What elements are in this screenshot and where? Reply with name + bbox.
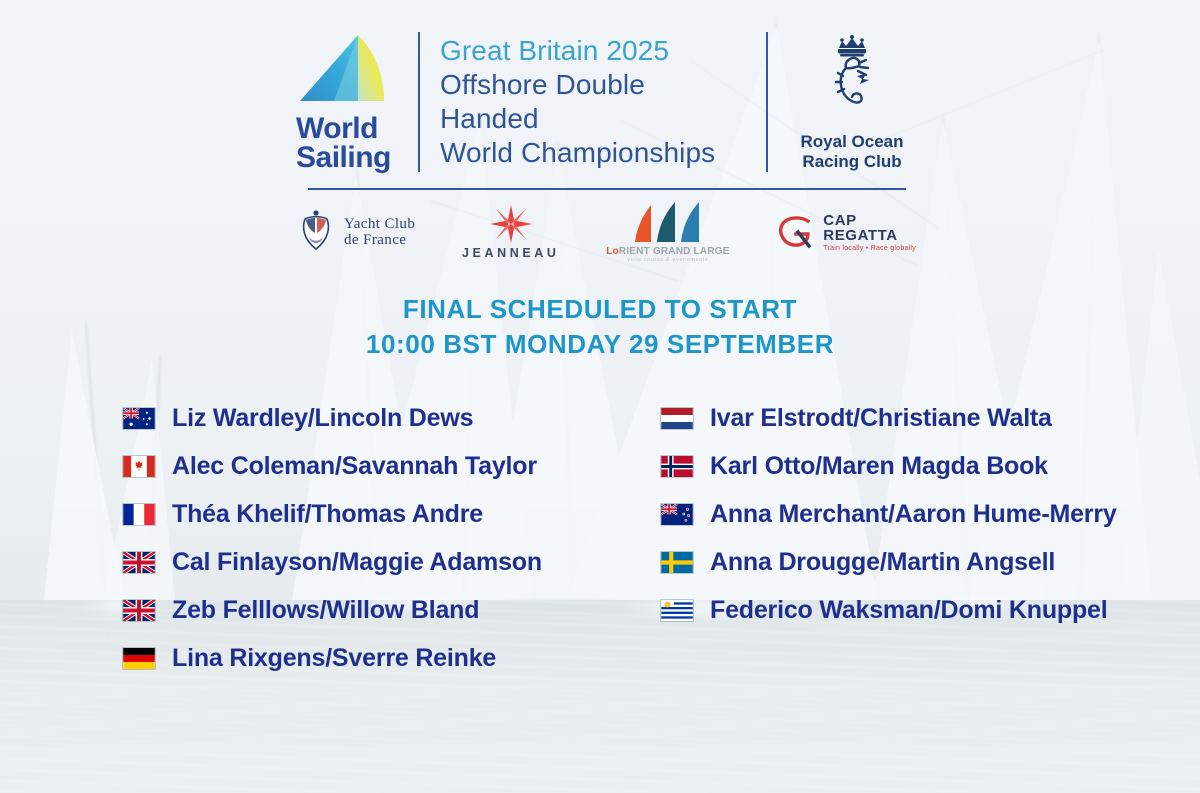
entry-row: Karl Otto/Maren Magda Book bbox=[660, 442, 1180, 490]
rorc-wordmark: Royal Ocean Racing Club bbox=[788, 132, 916, 171]
entry-name: Anna Merchant/Aaron Hume-Merry bbox=[710, 500, 1117, 529]
entry-row: Ivar Elstrodt/Christiane Walta bbox=[660, 394, 1180, 442]
lorient-grand-large-tagline: voile course & evenements bbox=[627, 257, 708, 263]
cap-regatta-wordmark: CAP REGATTA Train locally • Race globall… bbox=[823, 213, 916, 252]
flag-no-icon bbox=[660, 455, 694, 478]
flag-au-icon bbox=[122, 407, 156, 430]
entry-list: Liz Wardley/Lincoln Dews Alec Coleman/Sa… bbox=[0, 394, 1200, 682]
event-title: Great Britain 2025 Offshore Double Hande… bbox=[440, 34, 748, 171]
lorient-grand-large-wordmark: LoRIENT GRAND LARGE bbox=[606, 246, 729, 257]
entry-row: Federico Waksman/Domi Knuppel bbox=[660, 586, 1180, 634]
entry-row: Anna Merchant/Aaron Hume-Merry bbox=[660, 490, 1180, 538]
entry-name: Federico Waksman/Domi Knuppel bbox=[710, 596, 1108, 625]
entry-name: Alec Coleman/Savannah Taylor bbox=[172, 452, 537, 481]
seahorse-crown-icon bbox=[815, 32, 889, 128]
header-divider-rule bbox=[308, 188, 906, 190]
entry-row: Lina Rixgens/Sverre Reinke bbox=[122, 634, 642, 682]
entry-row: Cal Finlayson/Maggie Adamson bbox=[122, 538, 642, 586]
entry-column-left: Liz Wardley/Lincoln Dews Alec Coleman/Sa… bbox=[122, 394, 642, 682]
lockup-divider-right bbox=[766, 32, 768, 172]
cap-r-icon bbox=[776, 215, 816, 249]
entry-row: Liz Wardley/Lincoln Dews bbox=[122, 394, 642, 442]
flag-fr-icon bbox=[122, 503, 156, 526]
headline-block: FINAL SCHEDULED TO START 10:00 BST MONDA… bbox=[0, 292, 1200, 362]
entry-row: Alec Coleman/Savannah Taylor bbox=[122, 442, 642, 490]
crest-icon bbox=[296, 209, 336, 255]
flag-nl-icon bbox=[660, 407, 694, 430]
sail-logo-icon bbox=[296, 31, 392, 111]
jeanneau-wordmark: JEANNEAU bbox=[462, 246, 560, 260]
event-title-line2: Offshore Double Handed bbox=[440, 68, 748, 136]
entry-name: Lina Rixgens/Sverre Reinke bbox=[172, 644, 496, 673]
yacht-club-de-france-wordmark: Yacht Club de France bbox=[344, 216, 415, 248]
flag-ca-icon bbox=[122, 455, 156, 478]
sponsor-jeanneau: JEANNEAU bbox=[462, 204, 560, 260]
poster-canvas: World Sailing Great Britain 2025 Offshor… bbox=[0, 0, 1200, 793]
sponsor-cap-regatta: CAP REGATTA Train locally • Race globall… bbox=[776, 213, 916, 252]
sponsor-strip: Yacht Club de France bbox=[296, 200, 916, 264]
entry-row: Anna Drougge/Martin Angsell bbox=[660, 538, 1180, 586]
entry-name: Liz Wardley/Lincoln Dews bbox=[172, 404, 473, 433]
headline-line2: 10:00 BST MONDAY 29 SEPTEMBER bbox=[0, 327, 1200, 362]
header-lockup: World Sailing Great Britain 2025 Offshor… bbox=[296, 28, 916, 176]
rorc-logo: Royal Ocean Racing Club bbox=[788, 32, 916, 171]
entry-row: Théa Khelif/Thomas Andre bbox=[122, 490, 642, 538]
entry-name: Ivar Elstrodt/Christiane Walta bbox=[710, 404, 1052, 433]
flag-se-icon bbox=[660, 551, 694, 574]
entry-row: Zeb Felllows/Willow Bland bbox=[122, 586, 642, 634]
entry-name: Cal Finlayson/Maggie Adamson bbox=[172, 548, 542, 577]
flag-gb-icon bbox=[122, 551, 156, 574]
three-sails-icon bbox=[625, 202, 711, 244]
event-title-line3: World Championships bbox=[440, 136, 748, 170]
sponsor-yacht-club-de-france: Yacht Club de France bbox=[296, 209, 415, 255]
world-sailing-logo: World Sailing bbox=[296, 31, 400, 173]
flag-gb-icon bbox=[122, 599, 156, 622]
lockup-divider-left bbox=[418, 32, 420, 172]
entry-name: Karl Otto/Maren Magda Book bbox=[710, 452, 1048, 481]
cap-regatta-tagline: Train locally • Race globally bbox=[823, 245, 916, 252]
flag-nz-icon bbox=[660, 503, 694, 526]
flag-de-icon bbox=[122, 647, 156, 670]
event-title-line1: Great Britain 2025 bbox=[440, 34, 748, 68]
sponsor-lorient-grand-large: LoRIENT GRAND LARGE voile course & evene… bbox=[606, 202, 729, 263]
world-sailing-wordmark: World Sailing bbox=[296, 115, 400, 173]
compass-star-icon bbox=[488, 204, 534, 244]
entry-name: Zeb Felllows/Willow Bland bbox=[172, 596, 479, 625]
entry-name: Théa Khelif/Thomas Andre bbox=[172, 500, 483, 529]
flag-uy-icon bbox=[660, 599, 694, 622]
headline-line1: FINAL SCHEDULED TO START bbox=[0, 292, 1200, 327]
entry-column-right: Ivar Elstrodt/Christiane Walta Karl Otto… bbox=[660, 394, 1180, 682]
entry-name: Anna Drougge/Martin Angsell bbox=[710, 548, 1055, 577]
